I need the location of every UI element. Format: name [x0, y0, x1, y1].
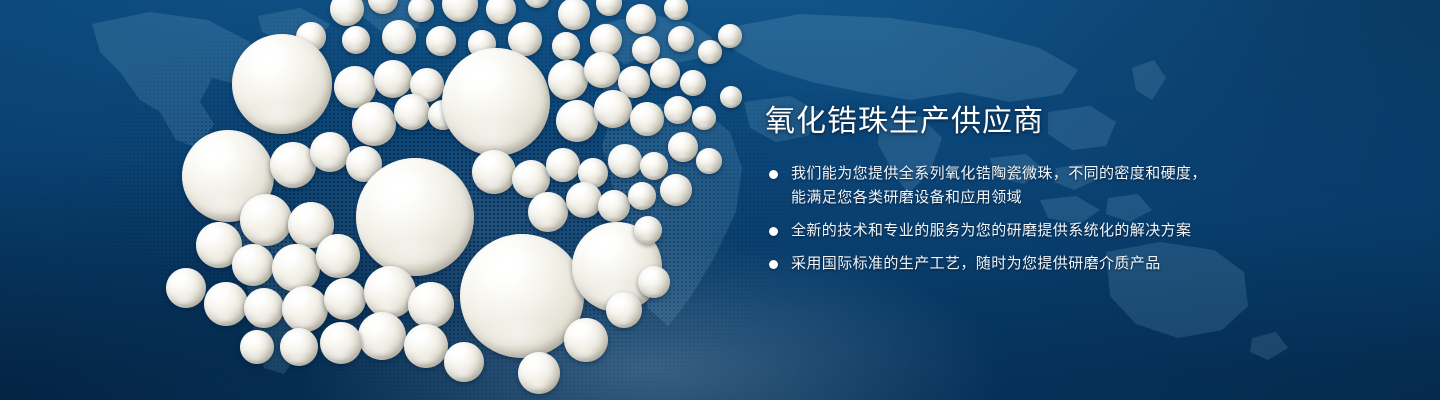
banner-text-block: 氧化锆珠生产供应商 我们能为您提供全系列氧化锆陶瓷微珠，不同的密度和硬度， 能满…	[765, 104, 1365, 276]
bullet-dot-icon	[769, 170, 778, 179]
bullet-item: 采用国际标准的生产工艺，随时为您提供研磨介质产品	[765, 251, 1365, 275]
bullet-line: 我们能为您提供全系列氧化锆陶瓷微珠，不同的密度和硬度，	[791, 161, 1365, 185]
bullet-line: 全新的技术和专业的服务为您的研磨提供系统化的解决方案	[791, 218, 1365, 242]
hero-banner: 氧化锆珠生产供应商 我们能为您提供全系列氧化锆陶瓷微珠，不同的密度和硬度， 能满…	[0, 0, 1440, 400]
banner-bullet-list: 我们能为您提供全系列氧化锆陶瓷微珠，不同的密度和硬度， 能满足您各类研磨设备和应…	[765, 161, 1365, 276]
bullet-line: 能满足您各类研磨设备和应用领域	[791, 185, 1365, 209]
bullet-dot-icon	[769, 260, 778, 269]
banner-headline: 氧化锆珠生产供应商	[765, 104, 1365, 141]
bullet-line: 采用国际标准的生产工艺，随时为您提供研磨介质产品	[791, 251, 1365, 275]
bullet-item: 全新的技术和专业的服务为您的研磨提供系统化的解决方案	[765, 218, 1365, 242]
bullet-item: 我们能为您提供全系列氧化锆陶瓷微珠，不同的密度和硬度， 能满足您各类研磨设备和应…	[765, 161, 1365, 210]
bullet-dot-icon	[769, 227, 778, 236]
